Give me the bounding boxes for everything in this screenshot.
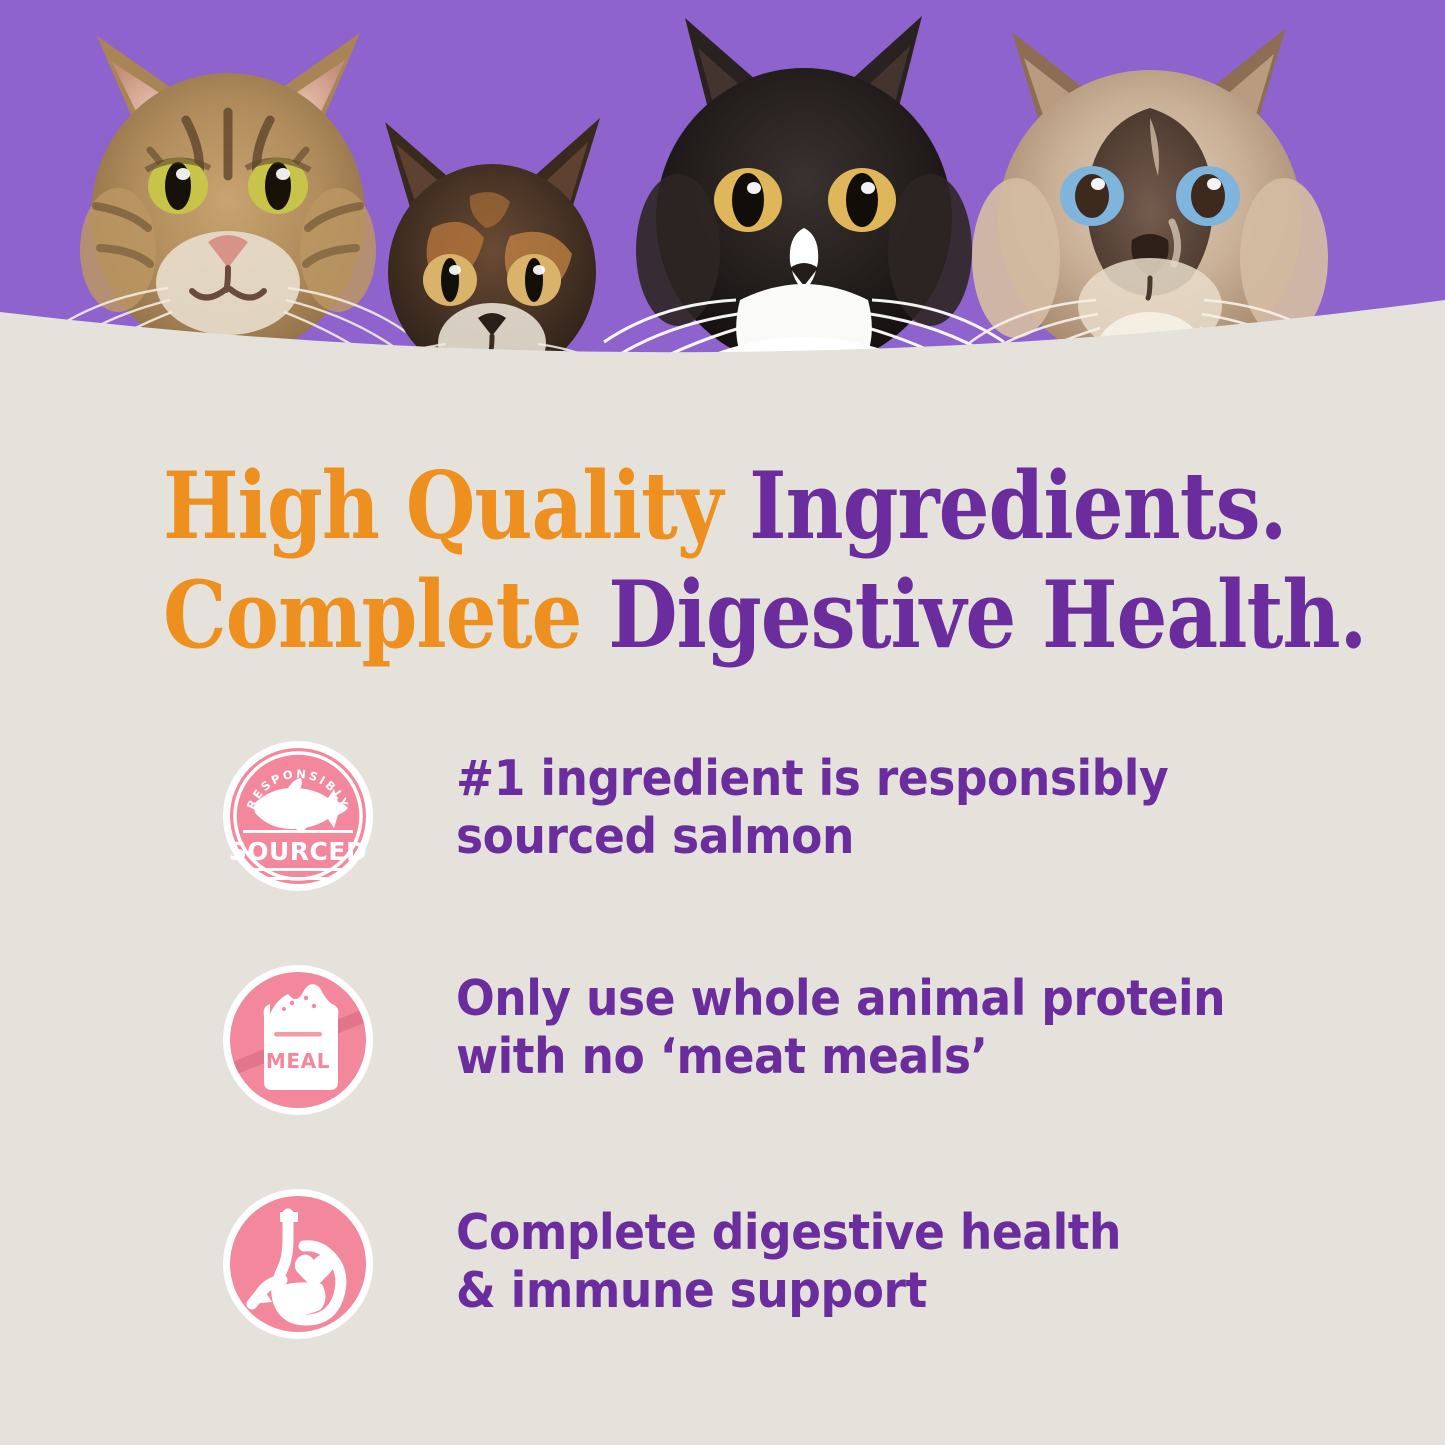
cat-tuxedo-black [602,16,1006,400]
feature-item-responsibly-sourced: RESPONSIBLY SOURCED [222,740,1322,892]
cats-illustration [0,0,1445,400]
page-headline: High Quality Ingredients. Complete Diges… [163,452,1178,670]
feature-1-line-1: #1 ingredient is responsibly [456,750,1261,808]
cat-tortoiseshell-kitten [344,118,640,400]
headline-complete: Complete [163,560,608,669]
cat-ragdoll-seal-point [966,28,1334,392]
badge-main-text: SOURCED [229,837,368,866]
headline-line-1: High Quality Ingredients. [163,452,1178,561]
headline-ingredients: Ingredients. [749,451,1286,560]
feature-text-responsibly-sourced: #1 ingredient is responsibly sourced sal… [456,740,1261,867]
hero-banner [0,0,1445,400]
feature-list: RESPONSIBLY SOURCED [222,740,1322,1340]
no-meat-meal-sack-icon: MEAL [222,964,374,1116]
feature-text-digestive-health: Complete digestive health & immune suppo… [456,1188,1261,1321]
responsibly-sourced-fish-badge-icon: RESPONSIBLY SOURCED [222,740,374,892]
feature-2-line-2: with no ‘meat meals’ [456,1028,1261,1086]
feature-text-no-meat-meals: Only use whole animal protein with no ‘m… [456,964,1261,1087]
feature-3-line-2: & immune support [456,1262,1261,1320]
feature-2-line-1: Only use whole animal protein [456,970,1261,1028]
headline-line-2: Complete Digestive Health. [163,561,1178,670]
stomach-heart-digestive-health-icon [222,1188,374,1340]
cat-brown-tabby [50,33,406,374]
marketing-infographic: High Quality Ingredients. Complete Diges… [0,0,1445,1445]
headline-high-quality: High Quality [163,451,749,560]
feature-1-line-2: sourced salmon [456,808,1261,866]
headline-digestive-health: Digestive Health. [608,560,1366,669]
feature-item-digestive-health: Complete digestive health & immune suppo… [222,1188,1322,1340]
feature-3-line-1: Complete digestive health [456,1204,1261,1262]
feature-item-no-meat-meals: MEAL Only use whole animal protein with … [222,964,1322,1116]
badge-main-text: MEAL [266,1049,330,1073]
